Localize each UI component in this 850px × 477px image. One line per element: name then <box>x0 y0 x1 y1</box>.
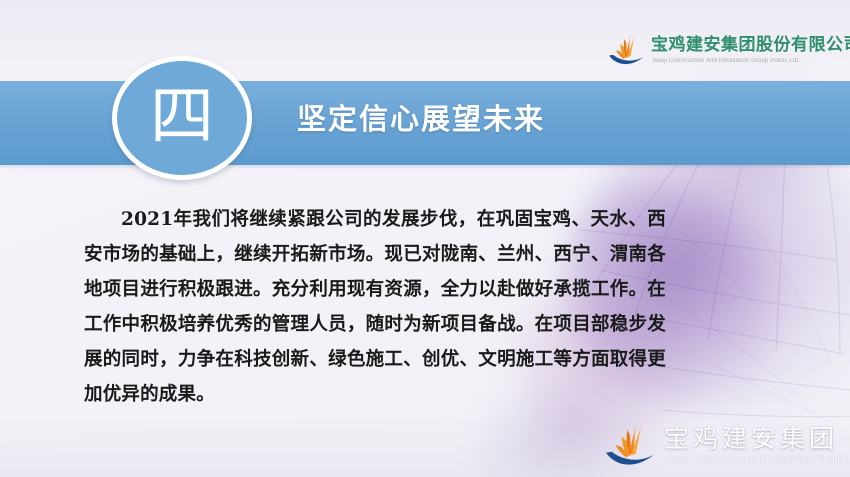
header-company-logo: 宝鸡建安集团股份有限公司 Baoji Construction And Inst… <box>606 26 844 74</box>
flame-sail-logo-icon <box>606 32 648 68</box>
section-number-badge: 四 <box>112 56 252 180</box>
body-paragraph: 2021年我们将继续紧跟公司的发展步伐，在巩固宝鸡、天水、西安市场的基础上，继续… <box>84 202 666 412</box>
presentation-slide: 宝鸡建安集团股份有限公司 Baoji Construction And Inst… <box>0 0 850 477</box>
section-number: 四 <box>150 85 214 149</box>
header-company-name-cn: 宝鸡建安集团股份有限公司 <box>651 36 850 56</box>
footer-company-name-cn: 宝鸡建安集团 <box>664 425 850 453</box>
header-logo-text: 宝鸡建安集团股份有限公司 Baoji Construction And Inst… <box>651 36 850 64</box>
flame-sail-logo-icon <box>600 420 662 470</box>
section-title: 坚定信心展望未来 <box>297 96 545 138</box>
footer-company-name-en: Baoji Construction and Installation Grou… <box>666 454 850 465</box>
footer-company-watermark: 宝鸡建安集团 Baoji Construction and Installati… <box>600 418 846 472</box>
footer-logo-text: 宝鸡建安集团 Baoji Construction and Installati… <box>664 425 850 465</box>
header-company-name-en: Baoji Construction And Installation Grou… <box>653 58 850 64</box>
